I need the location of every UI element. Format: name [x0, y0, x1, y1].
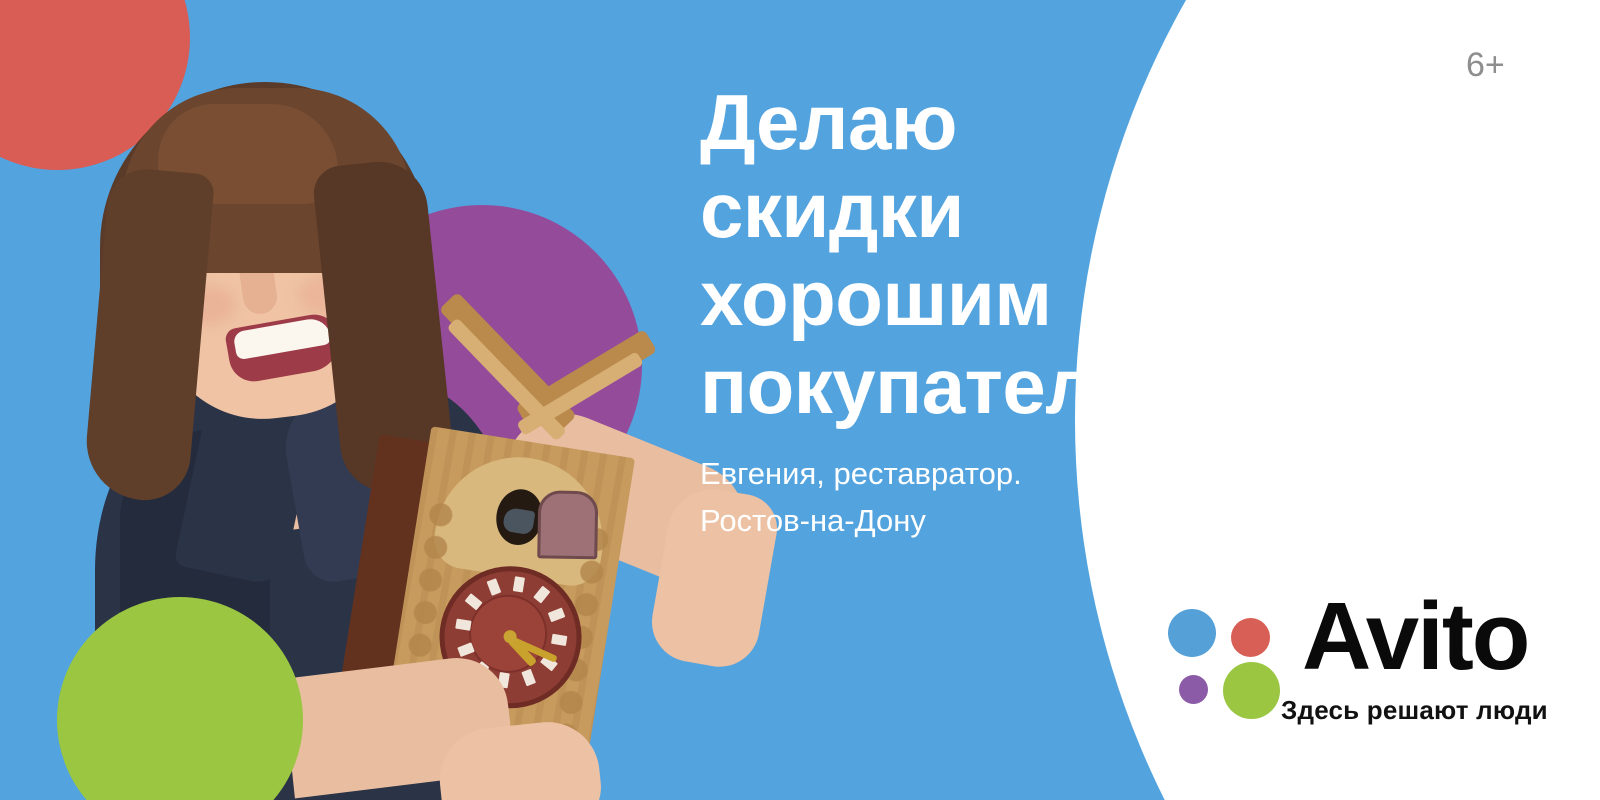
- headline-line-4: покупателям: [700, 342, 1320, 430]
- subtitle-line-1: Евгения, реставратор.: [700, 450, 1180, 497]
- avito-logo: Avito Здесь решают люди: [1168, 603, 1568, 733]
- logo-dot-red-icon: [1231, 618, 1270, 657]
- avito-tagline: Здесь решают люди: [1281, 697, 1548, 723]
- subtitle: Евгения, реставратор. Ростов-на-Дону: [700, 450, 1180, 544]
- headline-line-3: хорошим: [700, 254, 1320, 342]
- headline-line-1: Делаю: [700, 78, 1320, 166]
- avito-logo-dots: [1168, 603, 1288, 708]
- age-rating-badge: 6+: [1466, 48, 1505, 82]
- subtitle-line-2: Ростов-на-Дону: [700, 497, 1180, 544]
- logo-dot-purple-icon: [1179, 675, 1208, 704]
- headline-line-2: скидки: [700, 166, 1320, 254]
- avito-wordmark: Avito: [1302, 589, 1528, 685]
- logo-dot-green-icon: [1223, 662, 1280, 719]
- headline: Делаю скидки хорошим покупателям: [700, 78, 1320, 430]
- avito-advertising-banner: Делаю скидки хорошим покупателям Евгения…: [0, 0, 1600, 800]
- logo-dot-blue-icon: [1168, 609, 1216, 657]
